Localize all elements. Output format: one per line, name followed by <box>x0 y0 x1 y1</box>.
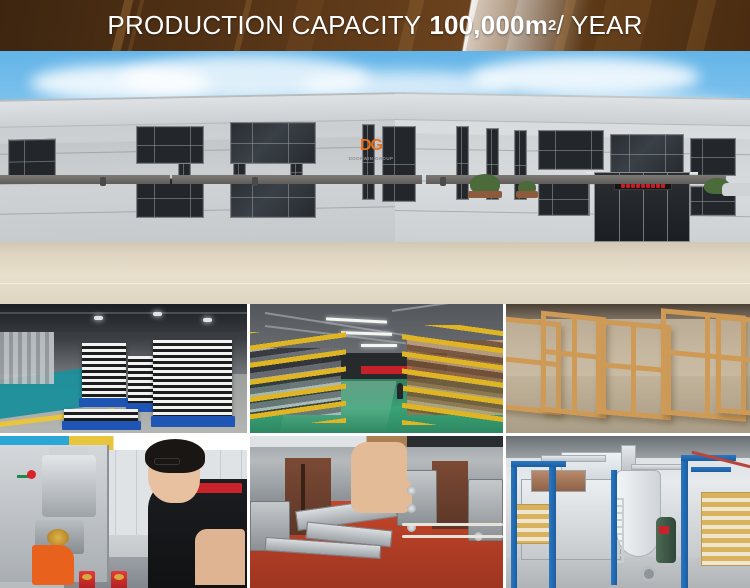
ceiling-lamp <box>94 316 103 320</box>
ceiling-light-tube <box>361 344 396 347</box>
cantilever-rack-right <box>402 325 503 426</box>
grid-photo-wooden-frames <box>506 304 750 433</box>
drying-louvers <box>701 492 750 566</box>
pavement-line <box>0 283 750 284</box>
forecourt-ground <box>0 240 750 304</box>
blue-steel-post <box>511 461 517 588</box>
cantilever-rack-left <box>250 332 346 422</box>
window <box>230 122 316 164</box>
red-spool <box>111 571 127 588</box>
header-banner: PRODUCTION CAPACITY 100,000m2 / YEAR <box>0 0 750 51</box>
parapet <box>0 94 405 128</box>
logo-mark: DG <box>348 138 394 154</box>
blue-pallet <box>151 416 235 427</box>
worker-hair <box>145 439 205 473</box>
entrance-steps <box>0 175 170 184</box>
roof-beam <box>0 312 247 314</box>
wooden-window-frame <box>596 319 671 421</box>
logo-wordmark: DOORWIN GROUP <box>348 156 394 161</box>
building-left-wing <box>0 92 405 242</box>
factory-exterior-photo: DG DOORWIN GROUP <box>0 51 750 304</box>
blue-steel-post <box>611 470 617 585</box>
entrance-steps <box>172 175 422 184</box>
parapet <box>395 94 750 127</box>
window <box>690 138 736 176</box>
die-slot <box>301 464 305 514</box>
banner-headline: PRODUCTION CAPACITY 100,000m2 / YEAR <box>0 0 750 51</box>
factory-building: DG DOORWIN GROUP <box>0 90 750 242</box>
window <box>538 130 604 170</box>
grid-photo-worker-machine <box>0 436 247 588</box>
bolt-head <box>407 504 416 513</box>
planter-pot <box>468 191 502 198</box>
banner-headline-figure: 100,000m <box>429 10 548 41</box>
bollard-lamp <box>252 177 258 186</box>
bollard-lamp <box>440 177 446 186</box>
bolt-head <box>407 486 416 495</box>
banner-headline-part3: / YEAR <box>557 10 643 41</box>
grid-photo-powder-coating <box>506 436 750 588</box>
grid-photo-racking-warehouse <box>250 304 503 433</box>
air-hose <box>402 535 503 538</box>
ceiling-lamp <box>153 312 162 316</box>
production-capacity-page: PRODUCTION CAPACITY 100,000m2 / YEAR <box>0 0 750 588</box>
window <box>538 182 590 216</box>
trolley-wheel <box>641 566 657 582</box>
blue-steel-post <box>549 461 556 588</box>
side-racking <box>0 332 54 384</box>
window <box>136 178 204 218</box>
blue-pallet <box>62 421 141 430</box>
clamp-block <box>468 479 503 541</box>
window <box>456 126 469 200</box>
blue-steel-beam <box>691 467 731 472</box>
brass-fitting <box>47 529 69 546</box>
grid-photo-corner-crimping <box>250 436 503 588</box>
blue-steel-post <box>681 455 688 588</box>
window <box>362 124 375 200</box>
worker-arm <box>195 529 244 585</box>
planter-pot <box>516 191 538 198</box>
factory-photo-grid <box>0 304 750 588</box>
blue-pallet <box>79 398 128 407</box>
worker-figure <box>397 383 403 399</box>
building-logo: DG DOORWIN GROUP <box>348 138 394 161</box>
blue-steel-beam <box>511 461 566 467</box>
brown-die-block <box>432 461 467 529</box>
orange-guard <box>32 545 74 585</box>
banner-headline-part1: PRODUCTION CAPACITY <box>107 10 421 41</box>
parked-car <box>722 183 750 196</box>
bollard-lamp <box>100 177 106 186</box>
ceiling-lamp <box>203 318 212 322</box>
window <box>610 134 684 174</box>
grid-photo-stacked-panels <box>0 304 247 433</box>
red-spool <box>79 571 95 588</box>
air-hose <box>402 523 503 526</box>
banner-headline-superscript: 2 <box>548 17 557 34</box>
tank-label <box>659 526 669 534</box>
booth-hood <box>531 470 586 492</box>
panel-stack <box>153 340 232 417</box>
pressure-tank <box>656 517 676 564</box>
panel-stack <box>82 343 126 400</box>
window <box>136 126 204 164</box>
safety-glasses-icon <box>154 458 180 465</box>
motor-housing <box>42 455 96 517</box>
wooden-window-frame <box>716 314 750 417</box>
